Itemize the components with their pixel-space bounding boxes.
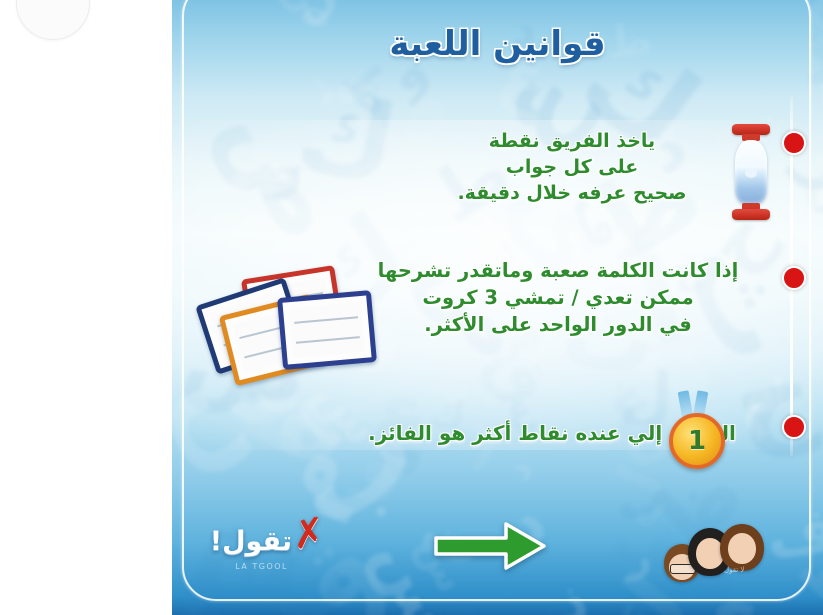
texture-glyph: م <box>319 58 369 114</box>
texture-glyph: ز <box>816 544 823 592</box>
corner-avatar-bubble <box>16 0 90 40</box>
hourglass-icon <box>730 122 772 222</box>
avatar-3 <box>720 524 764 571</box>
texture-glyph: ب <box>606 461 676 531</box>
avatar-3-face <box>728 533 756 564</box>
texture-glyph: ع <box>426 572 503 615</box>
bullet-dot-2 <box>782 266 806 290</box>
cards-icon <box>204 272 366 372</box>
texture-glyph: ذ <box>552 601 598 615</box>
texture-glyph: ظ <box>783 517 823 615</box>
texture-glyph: ن <box>802 156 823 217</box>
texture-glyph: ر <box>627 535 652 579</box>
game-card-blue <box>277 290 377 370</box>
texture-glyph: ق <box>476 331 563 416</box>
avatar-caption: لا تقول <box>724 566 744 574</box>
game-rules-slide: ضذرشذمعبشضزغكدولمخزننظبتوعنسظطيأفتكنثظدص… <box>172 0 823 615</box>
rule-1-line-3: صحيح عرفه خلال دقيقة. <box>372 180 772 206</box>
hourglass-bottom-cap <box>732 209 770 220</box>
rule-2-line-3: في الدور الواحد على الأكثر. <box>342 312 774 339</box>
logo-word: تقول! <box>210 526 292 557</box>
game-logo: ✗ تقول! LA TGOOL <box>188 512 328 590</box>
rule-1-line-2: على كل جواب <box>372 154 772 180</box>
bullet-dot-3 <box>782 415 806 439</box>
texture-glyph: ب <box>777 372 823 522</box>
medal-number: 1 <box>688 428 706 454</box>
rule-2-line-2: ممكن تعدي / تمشي 3 كروت <box>342 285 774 312</box>
texture-glyph: ظ <box>795 63 823 187</box>
page-canvas: ضذرشذمعبشضزغكدولمخزننظبتوعنسظطيأفتكنثظدص… <box>0 0 823 615</box>
card-face <box>289 302 365 358</box>
texture-glyph: و <box>265 135 304 195</box>
texture-glyph: ظ <box>332 54 405 127</box>
texture-glyph: أ <box>247 217 263 253</box>
logo-subtitle: LA TGOOL <box>235 562 288 571</box>
rule-1-line-1: ياخذ الفريق نقطة <box>372 128 772 154</box>
texture-glyph: ج <box>232 106 305 182</box>
medal-icon: 1 <box>662 395 724 471</box>
next-arrow-button[interactable] <box>432 518 548 574</box>
texture-glyph: ذ <box>500 454 539 486</box>
page-title: قوانين اللعبة <box>172 24 823 64</box>
texture-glyph: ط <box>235 382 326 472</box>
texture-glyph: ن <box>249 131 360 240</box>
hourglass-waist <box>745 168 757 178</box>
texture-glyph: غ <box>812 431 823 518</box>
avatar-group: لا تقول <box>662 524 772 582</box>
texture-glyph: ح <box>216 111 330 229</box>
texture-glyph: ذ <box>554 573 593 615</box>
texture-glyph: ض <box>208 82 368 257</box>
texture-glyph: ك <box>745 371 791 420</box>
texture-glyph: ش <box>273 599 416 615</box>
texture-glyph: د <box>430 364 493 416</box>
logo-x-mark-icon: ✗ <box>290 512 329 556</box>
rule-2-text: إذا كانت الكلمة صعبة وماتقدر تشرحها ممكن… <box>342 258 774 339</box>
rule-1-text: ياخذ الفريق نقطة على كل جواب صحيح عرفه خ… <box>372 128 772 207</box>
texture-glyph: ت <box>663 577 776 615</box>
rule-2-line-1: إذا كانت الكلمة صعبة وماتقدر تشرحها <box>342 258 774 285</box>
medal-disc: 1 <box>669 413 725 469</box>
texture-glyph: ص <box>456 570 599 615</box>
texture-glyph: ث <box>282 374 371 463</box>
next-arrow-icon[interactable] <box>436 524 544 568</box>
bullet-dot-1 <box>782 131 806 155</box>
